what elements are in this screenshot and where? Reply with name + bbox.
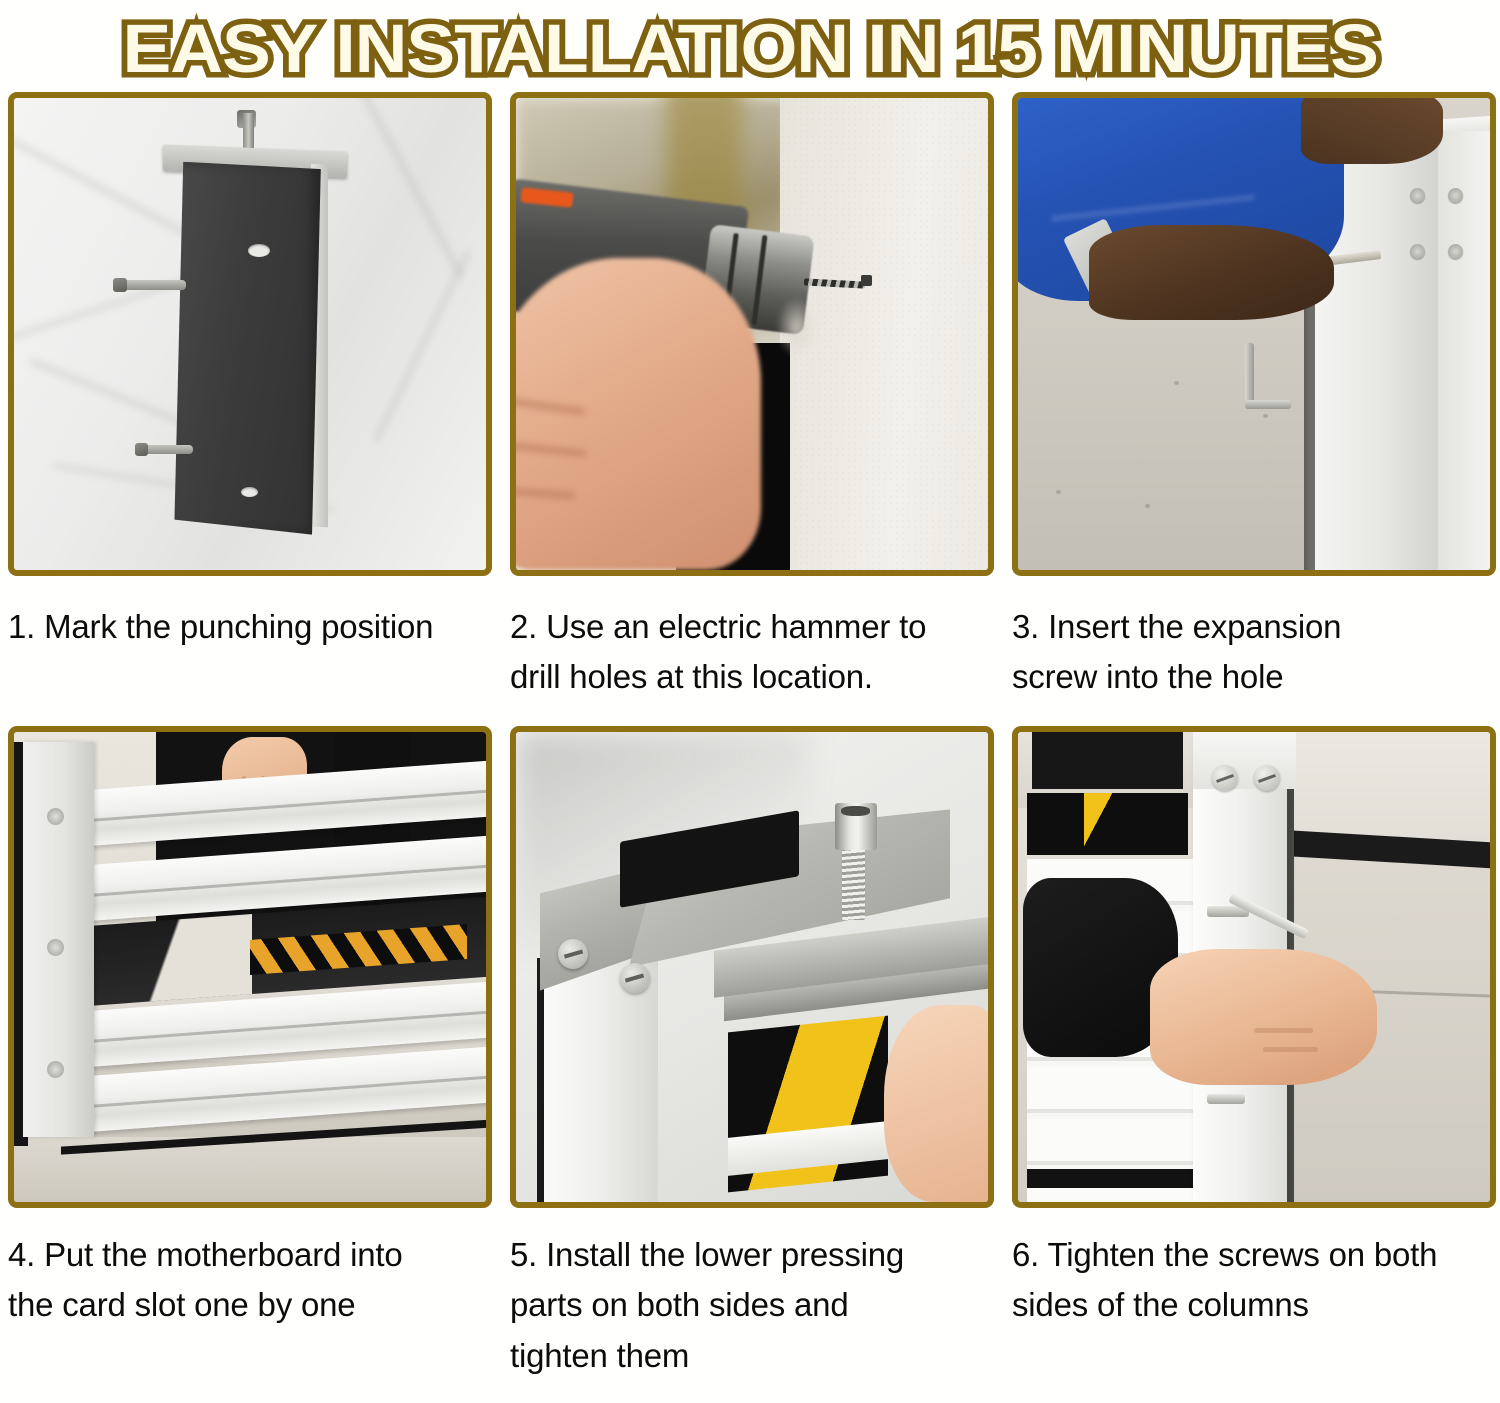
hand <box>516 258 761 570</box>
step-caption-3: 3. Insert the expansion screw into the h… <box>1012 602 1496 702</box>
photo-drilling-wall <box>516 98 988 570</box>
installation-guide-page: EASY INSTALLATION IN 15 MINUTES <box>0 0 1500 1403</box>
column-screw <box>1448 188 1463 203</box>
page-title: EASY INSTALLATION IN 15 MINUTES <box>122 14 1377 83</box>
step-caption-6: 6. Tighten the screws on both sides of t… <box>1012 1230 1496 1330</box>
photo-boards-into-slot <box>14 732 486 1202</box>
post-screw <box>47 808 64 825</box>
step-photo-4 <box>8 726 492 1208</box>
step-card-2: 2. Use an electric hammer to drill holes… <box>510 92 994 702</box>
step-caption-1: 1. Mark the punching position <box>8 602 492 652</box>
mounting-plate <box>174 162 320 535</box>
expansion-stud-lower <box>141 445 193 454</box>
step-card-6: 6. Tighten the screws on both sides of t… <box>1012 726 1496 1380</box>
photo-worker-blue-shirt <box>1018 98 1490 570</box>
step-card-3: 3. Insert the expansion screw into the h… <box>1012 92 1496 702</box>
column-screw <box>1410 188 1425 203</box>
photo-pressing-bracket <box>516 732 988 1202</box>
step-photo-5 <box>510 726 994 1208</box>
steps-row-2: 4. Put the motherboard into the card slo… <box>0 726 1500 1380</box>
step-card-5: 5. Install the lower pressing parts on b… <box>510 726 994 1380</box>
steps-row-1: 1. Mark the punching position <box>0 92 1500 702</box>
step-card-4: 4. Put the motherboard into the card slo… <box>8 726 492 1380</box>
photo-mounting-plate <box>14 98 486 570</box>
step-photo-1 <box>8 92 492 576</box>
step-photo-3 <box>1012 92 1496 576</box>
column-bolt <box>1207 1094 1245 1104</box>
hand <box>1150 949 1377 1085</box>
forearm <box>1089 225 1334 319</box>
photo-tightening-screws <box>1018 732 1490 1202</box>
step-caption-2: 2. Use an electric hammer to drill holes… <box>510 602 994 702</box>
hand <box>884 1005 988 1202</box>
expansion-stud-upper <box>120 280 186 290</box>
step-photo-2 <box>510 92 994 576</box>
column-screw <box>1212 765 1238 791</box>
bracket-screw <box>620 963 650 993</box>
step-card-1: 1. Mark the punching position <box>8 92 492 702</box>
step-caption-4: 4. Put the motherboard into the card slo… <box>8 1230 492 1330</box>
bolt-thread <box>842 845 866 920</box>
post-screw <box>47 939 64 956</box>
allen-key-icon <box>1245 343 1254 404</box>
step-caption-5: 5. Install the lower pressing parts on b… <box>510 1230 994 1380</box>
column-screw <box>1448 244 1463 259</box>
page-title-bar: EASY INSTALLATION IN 15 MINUTES <box>0 0 1500 92</box>
step-photo-6 <box>1012 726 1496 1208</box>
column-screw <box>1410 244 1425 259</box>
bolt-head-icon <box>835 803 877 850</box>
